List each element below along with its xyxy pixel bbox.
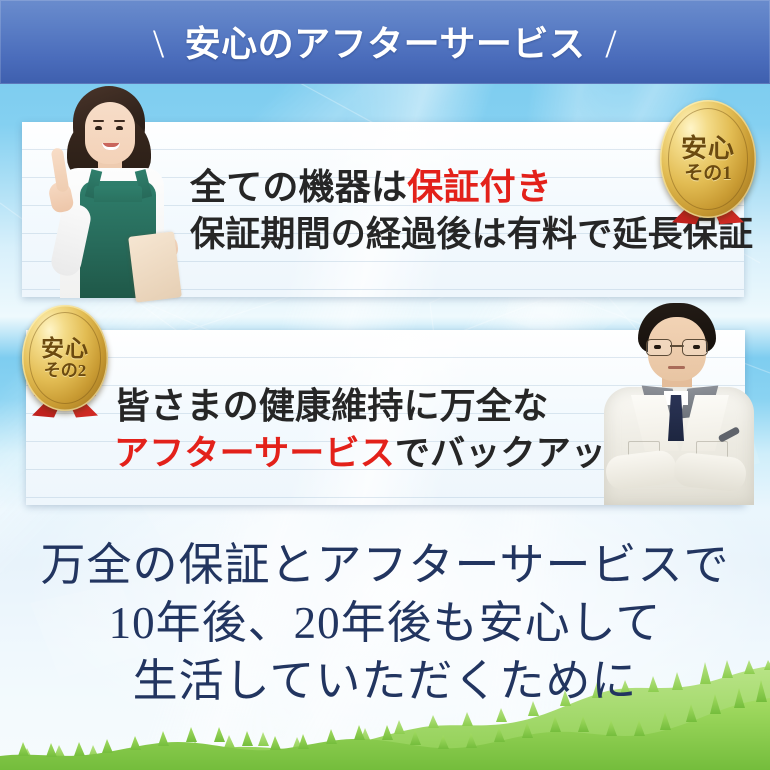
closing-line-1: 万全の保証とアフターサービスで	[0, 536, 770, 594]
woman-staff-illustration	[36, 86, 188, 298]
card2-line1: 皆さまの健康維持に万全な	[114, 382, 677, 430]
badge-2-bottom-label: その2	[44, 362, 87, 379]
badge-1-top-label: 安心	[681, 136, 735, 162]
closing-line-2: 10年後、20年後も安心して	[0, 594, 770, 652]
page-title: 安心のアフターサービス	[185, 26, 586, 62]
badge-anshin-1: 安心 その1	[660, 100, 756, 220]
card1-line1-plain: 全ての機器は	[190, 166, 407, 207]
card2-line2: アフターサービスでバックアップ！	[114, 430, 677, 478]
badge-1-bottom-label: その1	[684, 164, 732, 183]
benefit-card-2-text: 皆さまの健康維持に万全な アフターサービスでバックアップ！	[114, 382, 677, 478]
man-technician-illustration	[598, 303, 758, 505]
closing-line-3: 生活していただくために	[0, 652, 770, 710]
badge-1-disc: 安心 その1	[660, 100, 756, 218]
banner-root: / 安心のアフターサービス / 全ての機器は保証付き 保証期間の経過後は有料で延…	[0, 0, 770, 770]
slash-left-icon: /	[153, 24, 164, 64]
badge-2-disc: 安心 その2	[22, 305, 108, 411]
slash-right-icon: /	[605, 24, 616, 64]
card2-line2-accent: アフターサービス	[114, 434, 395, 473]
card1-line1-accent: 保証付き	[407, 166, 552, 207]
badge-2-top-label: 安心	[41, 337, 89, 360]
badge-anshin-2: 安心 その2	[22, 305, 108, 413]
header-banner: / 安心のアフターサービス /	[0, 0, 770, 84]
closing-message: 万全の保証とアフターサービスで 10年後、20年後も安心して 生活していただくた…	[0, 536, 770, 710]
